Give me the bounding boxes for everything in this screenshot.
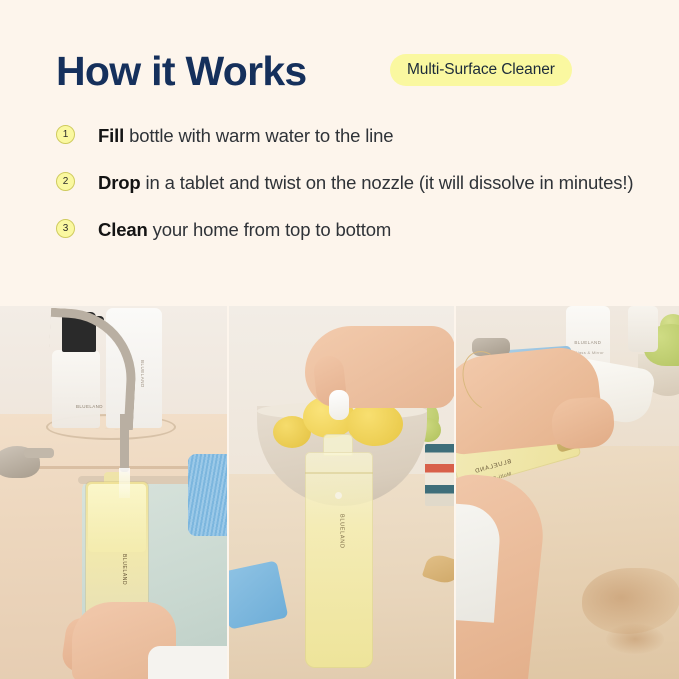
photo-strip: BLUELAND BLUELAND BLUELAND (0, 306, 679, 679)
step-number-2: 2 (63, 177, 69, 187)
p2-lemon-right (347, 402, 403, 446)
step-item-2: 2 Drop in a tablet and twist on the nozz… (56, 169, 656, 196)
step-1-photo: BLUELAND BLUELAND BLUELAND (0, 306, 227, 679)
p1-faucet-handle (24, 448, 54, 458)
step-item-3: 3 Clean your home from top to bottom (56, 216, 656, 243)
step-number-1: 1 (63, 130, 69, 140)
p2-cleaning-tablet (329, 390, 349, 420)
title-row: How it Works Multi-Surface Cleaner (56, 45, 656, 101)
p3-spray-wet-spot-secondary (606, 624, 664, 654)
p2-bottle-dot (335, 492, 342, 499)
step-rest-1: bottle with warm water to the line (124, 125, 393, 146)
step-number-badge-2: 2 (56, 172, 75, 191)
p2-book-stack (425, 444, 455, 506)
step-rest-2: in a tablet and twist on the nozzle (it … (141, 172, 634, 193)
p1-dish-soap-label: BLUELAND (140, 360, 145, 388)
step-number-badge-3: 3 (56, 219, 75, 238)
step-lead-2: Drop (98, 172, 141, 193)
steps-list: 1 Fill bottle with warm water to the lin… (56, 122, 656, 243)
step-item-1: 1 Fill bottle with warm water to the lin… (56, 122, 656, 149)
step-lead-3: Clean (98, 219, 148, 240)
header-section: How it Works Multi-Surface Cleaner 1 Fil… (0, 0, 679, 306)
step-text-3: Clean your home from top to bottom (98, 216, 656, 243)
step-number-badge-1: 1 (56, 125, 75, 144)
step-text-1: Fill bottle with warm water to the line (98, 122, 656, 149)
step-2-photo: BLUELAND (229, 306, 455, 679)
p1-sleeve (148, 646, 227, 679)
page-title: How it Works (56, 45, 307, 97)
product-badge: Multi-Surface Cleaner (390, 54, 572, 86)
p3-back-bottle-label: BLUELAND (574, 340, 601, 345)
p1-water-foam (88, 484, 146, 552)
step-rest-3: your home from top to bottom (148, 219, 391, 240)
p2-bottle-label: BLUELAND (333, 514, 345, 590)
p3-back-bottle-secondary (628, 306, 658, 352)
step-3-photo: BLUELAND Glass & Mirror BLUELAND Multi-S… (456, 306, 679, 679)
step-number-3: 3 (63, 224, 69, 234)
p2-fill-line (305, 472, 373, 474)
p1-water-stream (119, 468, 130, 498)
step-text-2: Drop in a tablet and twist on the nozzle… (98, 169, 656, 196)
how-it-works-infographic: How it Works Multi-Surface Cleaner 1 Fil… (0, 0, 679, 679)
step-lead-1: Fill (98, 125, 124, 146)
p1-faucet-spout (120, 414, 129, 472)
p1-blue-sponge (188, 454, 227, 536)
